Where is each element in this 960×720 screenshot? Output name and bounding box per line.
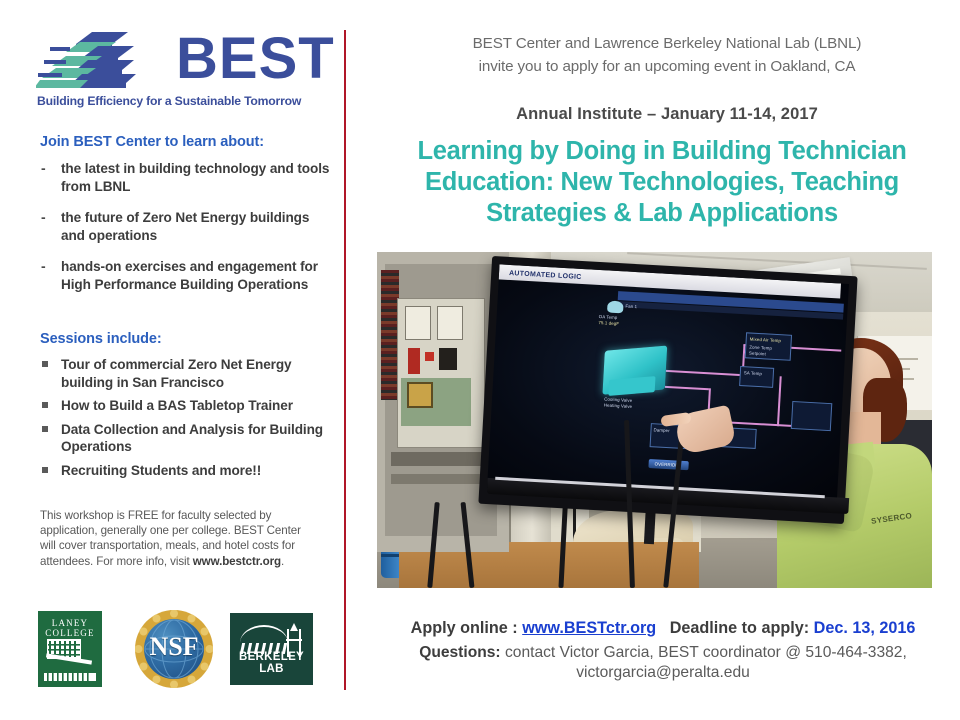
- photo-terminal-block: [391, 474, 483, 484]
- photo-indicator-led: [425, 352, 434, 361]
- screen-value: 75.1 degF: [598, 320, 619, 327]
- best-building-icon: [36, 30, 174, 92]
- page-title: Learning by Doing in Building Technician…: [366, 136, 958, 229]
- questions-line: Questions: contact Victor Garcia, BEST c…: [366, 641, 960, 664]
- apply-line: Apply online : www.BESTctr.org Deadline …: [366, 616, 960, 640]
- list-item: Recruiting Students and more!!: [40, 462, 330, 480]
- laney-logo-line2: COLLEGE: [38, 628, 102, 638]
- list-item-label: Data Collection and Analysis for Buildin…: [61, 421, 330, 456]
- questions-text: contact Victor Garcia, BEST coordinator …: [505, 644, 907, 661]
- deadline-label: Deadline to apply:: [670, 619, 814, 637]
- fineprint-paragraph: This workshop is FREE for faculty select…: [40, 508, 308, 569]
- square-bullet-icon: [42, 361, 48, 367]
- learn-about-list: - the latest in building technology and …: [40, 160, 330, 307]
- list-item-label: Recruiting Students and more!!: [61, 462, 330, 480]
- list-item-label: Tour of commercial Zero Net Energy build…: [61, 356, 330, 391]
- list-item-label: How to Build a BAS Tabletop Trainer: [61, 397, 330, 415]
- list-item-label: hands-on exercises and engagement for Hi…: [61, 258, 330, 293]
- apply-label: Apply online :: [411, 619, 523, 637]
- photo-relay: [405, 306, 431, 340]
- photo-relay: [437, 306, 463, 340]
- questions-label: Questions:: [419, 644, 505, 661]
- list-item: - hands-on exercises and engagement for …: [40, 258, 330, 293]
- page-title-line-2: Education: New Technologies, Teaching: [366, 167, 958, 198]
- partner-logos: LANEY COLLEGE: [38, 611, 338, 687]
- photo-black-module: [439, 348, 457, 370]
- photo-terminal-block: [391, 452, 483, 466]
- flyer-page: BEST Building Efficiency for a Sustainab…: [0, 0, 960, 720]
- screen-fan-icon: [607, 300, 624, 313]
- laney-steps-icon: [44, 673, 96, 681]
- list-item: Data Collection and Analysis for Buildin…: [40, 421, 330, 456]
- right-column: BEST Center and Lawrence Berkeley Nation…: [344, 0, 960, 720]
- screen-duct-line: [665, 386, 709, 390]
- list-item: - the latest in building technology and …: [40, 160, 330, 195]
- contact-email[interactable]: victorgarcia@peralta.edu: [366, 664, 960, 682]
- fineprint-website: www.bestctr.org: [193, 555, 281, 568]
- list-item-label: the future of Zero Net Energy buildings …: [61, 209, 330, 244]
- screen-ahu-base-graphic: [608, 376, 655, 396]
- dash-marker: -: [41, 209, 46, 225]
- event-dates: Annual Institute – January 11-14, 2017: [374, 105, 960, 124]
- logo-tagline: Building Efficiency for a Sustainable To…: [37, 94, 301, 108]
- apply-url-link[interactable]: www.BESTctr.org: [522, 619, 656, 637]
- square-bullet-icon: [42, 467, 48, 473]
- fineprint-period: .: [281, 555, 284, 568]
- invitation-line-2: invite you to apply for an upcoming even…: [374, 55, 960, 78]
- list-item: - the future of Zero Net Energy building…: [40, 209, 330, 244]
- list-item: How to Build a BAS Tabletop Trainer: [40, 397, 330, 415]
- page-title-line-3: Strategies & Lab Applications: [366, 198, 958, 229]
- photo-monitor-screen: AUTOMATED LOGIC OA Temp 75.1 degF Fan 1 …: [487, 264, 849, 507]
- screen-label: SA Temp: [744, 370, 762, 377]
- left-column: BEST Building Efficiency for a Sustainab…: [0, 0, 344, 720]
- list-item: Tour of commercial Zero Net Energy build…: [40, 356, 330, 391]
- screen-duct-line: [666, 370, 742, 376]
- berkeley-lab-logo: BERKELEY LAB: [230, 613, 313, 685]
- invitation-line-1: BEST Center and Lawrence Berkeley Nation…: [374, 32, 960, 55]
- photo-red-switch: [408, 348, 420, 374]
- list-item-label: the latest in building technology and to…: [61, 160, 330, 195]
- screen-label: Damper: [653, 427, 670, 433]
- dash-marker: -: [41, 258, 46, 274]
- laney-college-logo: LANEY COLLEGE: [38, 611, 102, 687]
- nsf-logo: NSF: [135, 610, 213, 688]
- deadline-date: Dec. 13, 2016: [814, 619, 916, 637]
- berkeley-arch-icon: [240, 625, 288, 643]
- page-title-line-1: Learning by Doing in Building Technician: [366, 136, 958, 167]
- logo-wordmark: BEST: [176, 26, 335, 92]
- square-bullet-icon: [42, 402, 48, 408]
- laney-logo-line1: LANEY: [38, 618, 102, 628]
- sessions-list: Tour of commercial Zero Net Energy build…: [40, 356, 330, 485]
- nsf-letters: NSF: [135, 632, 213, 662]
- screen-point-panel: [791, 401, 833, 431]
- learn-about-heading: Join BEST Center to learn about:: [40, 134, 264, 150]
- berkeley-lab-label: BERKELEY LAB: [230, 651, 313, 675]
- sessions-heading: Sessions include:: [40, 331, 162, 347]
- dash-marker: -: [41, 160, 46, 176]
- square-bullet-icon: [42, 426, 48, 432]
- photo-transformer: [407, 382, 433, 408]
- event-photo: B153: [377, 252, 932, 588]
- invitation-text: BEST Center and Lawrence Berkeley Nation…: [374, 32, 960, 78]
- screen-label: Fan 1: [625, 304, 637, 310]
- best-center-logo: BEST Building Efficiency for a Sustainab…: [36, 30, 321, 108]
- screen-duct-line: [777, 376, 781, 426]
